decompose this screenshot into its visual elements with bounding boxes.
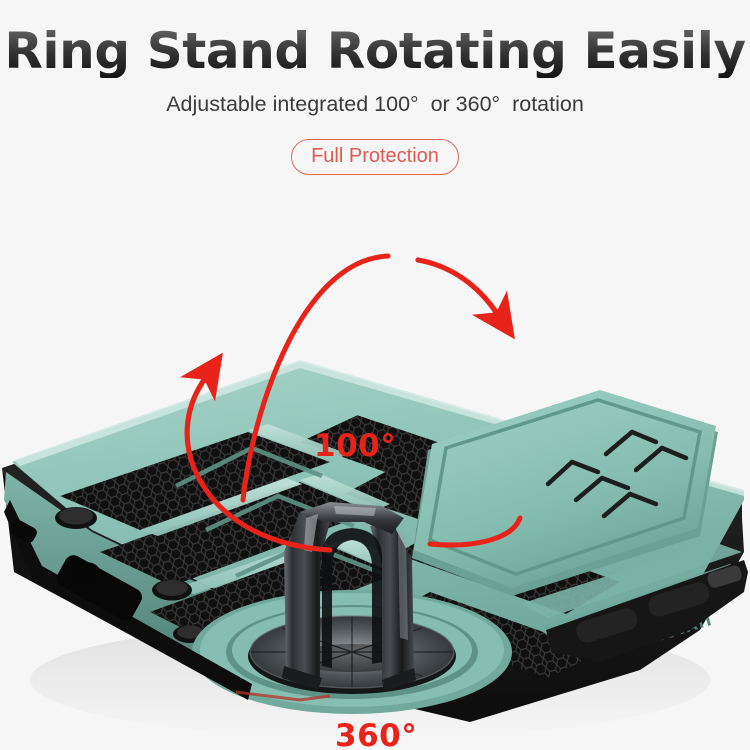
status-badge: Full Protection [291,139,459,175]
product-banner: Ring Stand Rotating Easily Adjustable in… [0,0,750,750]
speaker-cutout [72,562,100,582]
header-block: Ring Stand Rotating Easily Adjustable in… [0,0,750,175]
subtitle: Adjustable integrated 100° or 360° rotat… [0,78,750,117]
product-illustration: DISCO INNOVATI [0,200,750,750]
page-title: Ring Stand Rotating Easily [0,0,750,78]
badge-row: Full Protection [0,117,750,175]
